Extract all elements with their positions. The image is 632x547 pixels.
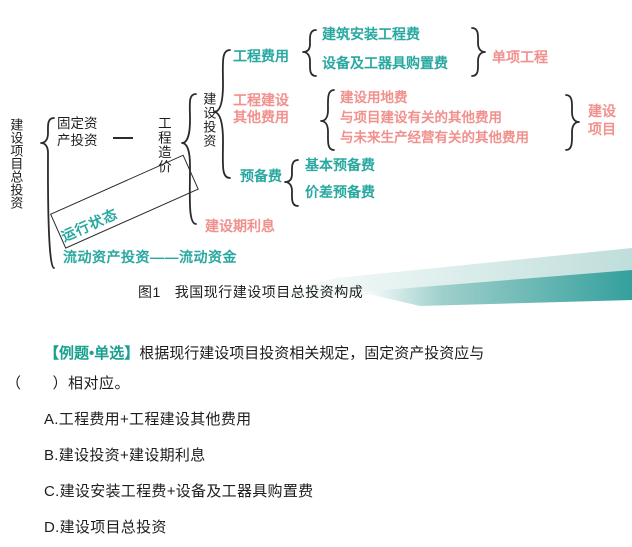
node-engineering-fee: 工程费用: [233, 48, 289, 65]
node-equipment-tool-purchase-fee: 设备及工器具购置费: [322, 55, 448, 72]
option-c[interactable]: C.建设安装工程费+设备及工器具购置费: [44, 480, 313, 504]
node-price-difference-reserve-fee: 价差预备费: [305, 184, 375, 201]
node-construction-installation-fee: 建筑安装工程费: [322, 26, 420, 43]
figure-caption: 图1我国现行建设项目总投资构成: [138, 282, 363, 302]
node-fixed-asset-investment: 固定资产投资: [57, 116, 99, 150]
node-construction-investment: 建设投资: [201, 92, 216, 148]
option-d[interactable]: D.建设项目总投资: [44, 516, 167, 540]
node-future-operation-other-fee: 与未来生产经营有关的其他费用: [340, 130, 529, 146]
root-node-total-investment: 建设项目总投资: [8, 118, 23, 209]
question-stem-line-1: 【例题•单选】根据现行建设项目投资相关规定，固定资产投资应与: [44, 342, 632, 366]
dash-connector: [113, 137, 133, 139]
node-land-use-fee: 建设用地费: [340, 90, 408, 106]
option-b[interactable]: B.建设投资+建设期利息: [44, 444, 206, 468]
question-stem-line-2: （ ）相对应。: [6, 372, 130, 396]
node-working-capital: 流动资产投资——流动资金: [63, 249, 237, 266]
node-construction-project: 建设项目: [588, 103, 620, 139]
node-single-project: 单项工程: [492, 49, 548, 66]
node-basic-reserve-fee: 基本预备费: [305, 157, 375, 174]
option-a[interactable]: A.工程费用+工程建设其他费用: [44, 408, 251, 432]
node-project-related-other-fee: 与项目建设有关的其他费用: [340, 110, 502, 126]
figure-title: 我国现行建设项目总投资构成: [175, 284, 364, 300]
question-type-tag: 【例题•单选】: [44, 345, 139, 362]
question-stem-text: 根据现行建设项目投资相关规定，固定资产投资应与: [139, 345, 484, 362]
figure-number: 图1: [138, 284, 161, 300]
investment-composition-diagram: 建设项目总投资 固定资产投资 工程造价 建设投资 运行状态 工程费用 建筑安装工…: [0, 0, 632, 312]
node-other-construction-fee: 工程建设其他费用: [233, 92, 295, 126]
node-construction-period-interest: 建设期利息: [205, 218, 275, 235]
node-reserve-fee: 预备费: [240, 168, 282, 185]
